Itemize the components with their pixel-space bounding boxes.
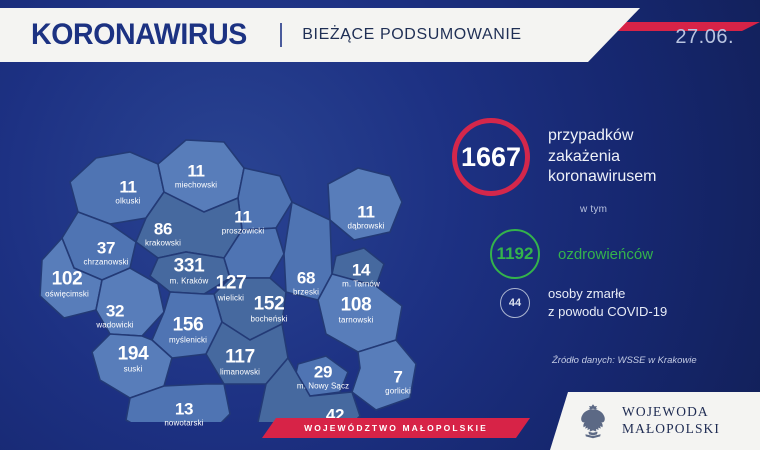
stat-recovered: 1192 ozdrowieńców: [490, 229, 653, 279]
district-dabrowski: [328, 168, 402, 240]
logo-line-1: WOJEWODA: [622, 404, 720, 421]
voivode-logo-text: WOJEWODA MAŁOPOLSKI: [622, 404, 720, 438]
header-date: 27.06.: [675, 26, 734, 49]
polish-eagle-icon: [576, 401, 610, 441]
cases-label-line3: koronawirusem: [548, 167, 656, 188]
map-districts: [40, 140, 416, 422]
header-subtitle: BIEŻĄCE PODSUMOWANIE: [302, 26, 521, 44]
logo-line-2: MAŁOPOLSKI: [622, 421, 720, 438]
voivode-logo-panel: WOJEWODA MAŁOPOLSKI: [550, 392, 760, 450]
deaths-label-line2: z powodu COVID-19: [548, 303, 667, 321]
cases-label-line1: przypadków: [548, 126, 656, 147]
cases-label: przypadków zakażenia koronawirusem: [548, 126, 656, 188]
district-m-krakow: [150, 252, 230, 294]
district-gorlicki: [352, 340, 416, 410]
footer-banner-text: WOJEWÓDZTWO MAŁOPOLSKIE: [262, 418, 530, 438]
stat-deaths: 44 osoby zmarłe z powodu COVID-19: [500, 285, 667, 320]
among-which-label: w tym: [580, 204, 607, 215]
stat-cases: 1667 przypadków zakażenia koronawirusem: [452, 118, 656, 196]
footer-banner: WOJEWÓDZTWO MAŁOPOLSKIE: [262, 418, 530, 438]
district-proszowicki: [238, 168, 292, 230]
district-tarnowski: [318, 274, 402, 352]
malopolska-map: [18, 72, 448, 422]
header-divider: [280, 23, 282, 47]
cases-circle: 1667: [452, 118, 530, 196]
recovered-circle: 1192: [490, 229, 540, 279]
header-content: KORONAWIRUS BIEŻĄCE PODSUMOWANIE: [0, 8, 640, 62]
cases-label-line2: zakażenia: [548, 147, 656, 168]
deaths-circle: 44: [500, 288, 530, 318]
data-source: Źródło danych: WSSE w Krakowie: [552, 355, 697, 366]
deaths-label-line1: osoby zmarłe: [548, 285, 667, 303]
deaths-label: osoby zmarłe z powodu COVID-19: [548, 285, 667, 320]
recovered-label: ozdrowieńców: [558, 246, 653, 263]
page-title: KORONAWIRUS: [31, 18, 247, 52]
infographic-canvas: KORONAWIRUS BIEŻĄCE PODSUMOWANIE 27.06.: [0, 0, 760, 450]
district-brzeski: [284, 202, 332, 300]
